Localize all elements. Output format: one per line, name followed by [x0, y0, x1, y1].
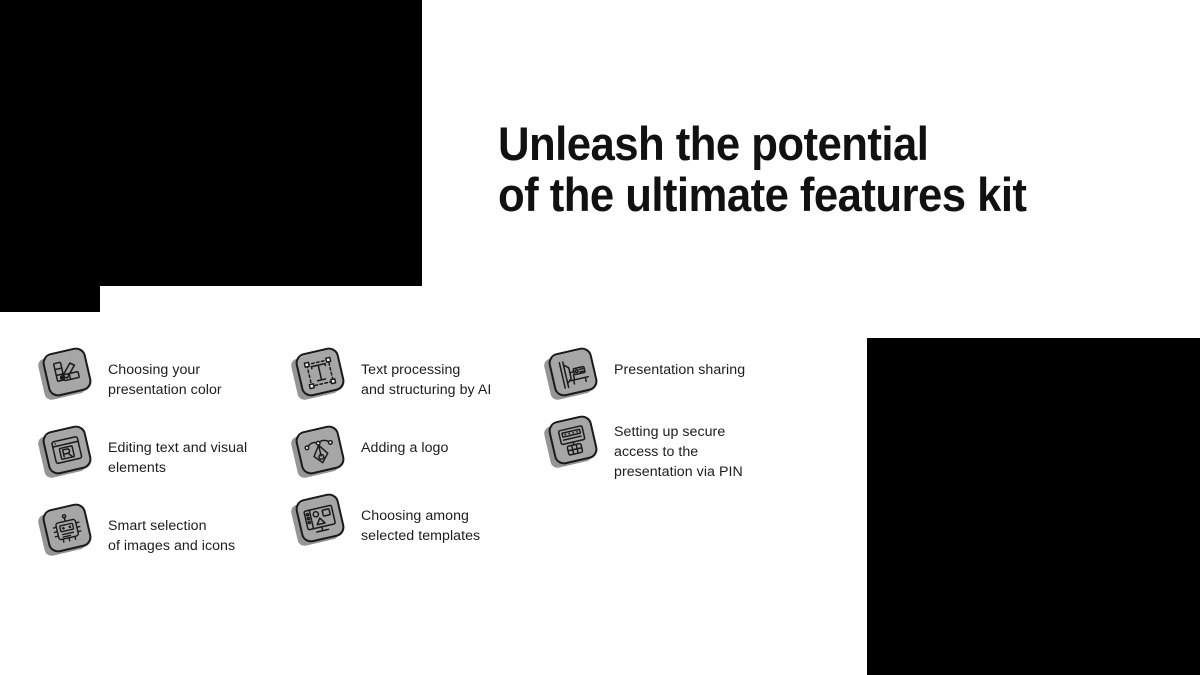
feature-item-secure-access-pin[interactable]: Setting up secure access to the presenta… — [544, 416, 743, 482]
color-palette-pen-icon — [38, 348, 96, 406]
feature-item-adding-logo[interactable]: Adding a logo — [291, 426, 448, 484]
feature-label: Setting up secure access to the presenta… — [614, 416, 743, 482]
feature-item-editing-text[interactable]: Editing text and visual elements — [38, 426, 247, 484]
title-line-2: of the ultimate features kit — [498, 169, 1112, 220]
title-line-1: Unleash the potential — [498, 118, 1112, 169]
feature-label: Text processing and structuring by AI — [361, 348, 491, 400]
robot-ai-icon — [38, 504, 96, 562]
monitor-template-icon — [291, 494, 349, 552]
projector-screen-icon — [544, 348, 602, 406]
feature-item-choosing-color[interactable]: Choosing your presentation color — [38, 348, 222, 406]
feature-item-choosing-templates[interactable]: Choosing among selected templates — [291, 494, 480, 552]
feature-item-text-processing[interactable]: Text processing and structuring by AI — [291, 348, 491, 406]
feature-label: Smart selection of images and icons — [108, 504, 235, 556]
feature-label: Editing text and visual elements — [108, 426, 247, 478]
decorative-block-top-left — [0, 0, 422, 286]
page-title: Unleash the potential of the ultimate fe… — [498, 118, 1158, 220]
feature-item-smart-selection[interactable]: Smart selection of images and icons — [38, 504, 235, 562]
feature-label: Choosing among selected templates — [361, 494, 480, 546]
feature-label: Choosing your presentation color — [108, 348, 222, 400]
slide-canvas: Unleash the potential of the ultimate fe… — [0, 0, 1200, 675]
feature-item-presentation-sharing[interactable]: Presentation sharing — [544, 348, 745, 406]
pen-bezier-tool-icon — [291, 426, 349, 484]
text-bounding-box-icon — [291, 348, 349, 406]
edit-text-visual-icon — [38, 426, 96, 484]
feature-list: Choosing your presentation color — [0, 338, 1200, 598]
feature-label: Adding a logo — [361, 426, 448, 458]
decorative-block-top-left-step — [0, 286, 100, 312]
feature-label: Presentation sharing — [614, 348, 745, 380]
pin-keypad-icon — [544, 416, 602, 474]
